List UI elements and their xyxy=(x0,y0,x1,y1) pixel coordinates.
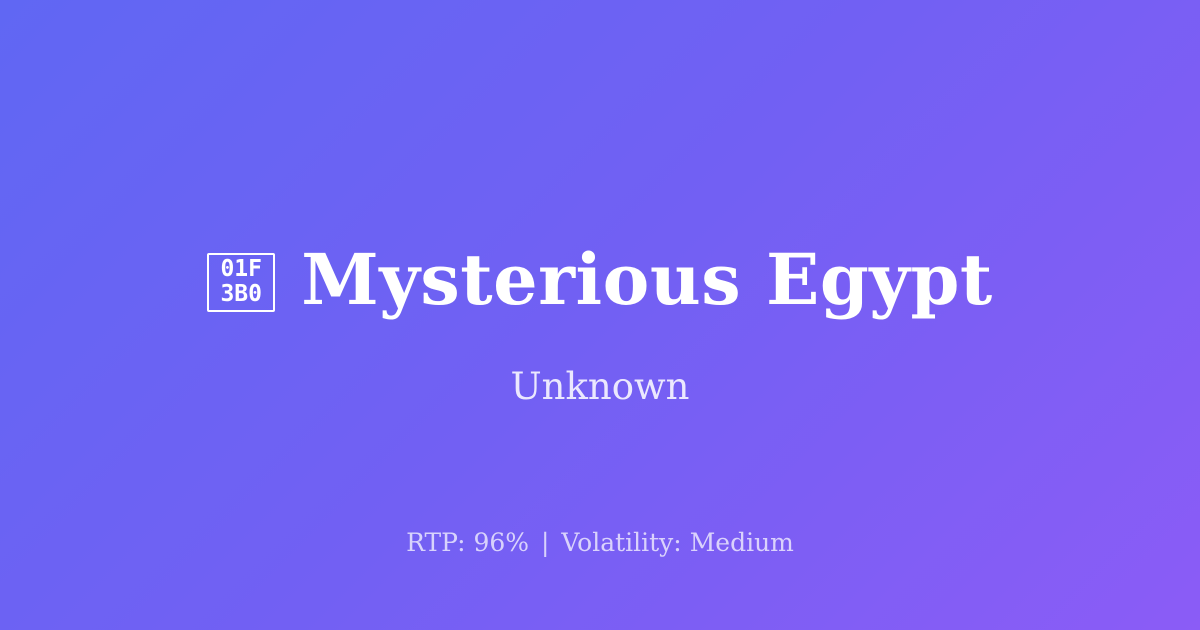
rtp-label: RTP: xyxy=(406,528,465,557)
volatility-value: Medium xyxy=(690,528,794,557)
tofu-codepoint-line-2: 3B0 xyxy=(220,282,262,307)
game-stats-line: RTP: 96% | Volatility: Medium xyxy=(0,526,1200,560)
stats-separator: | xyxy=(537,528,553,557)
volatility-label: Volatility: xyxy=(561,528,681,557)
rtp-value: 96% xyxy=(473,528,529,557)
page-title: Mysterious Egypt xyxy=(301,236,993,324)
title-row: 01F 3B0 Mysterious Egypt xyxy=(0,232,1200,328)
tofu-codepoint-line-1: 01F xyxy=(220,257,262,282)
og-preview-card: 01F 3B0 Mysterious Egypt Unknown RTP: 96… xyxy=(0,0,1200,630)
provider-label: Unknown xyxy=(0,363,1200,411)
slot-machine-emoji-icon: 01F 3B0 xyxy=(207,253,275,312)
